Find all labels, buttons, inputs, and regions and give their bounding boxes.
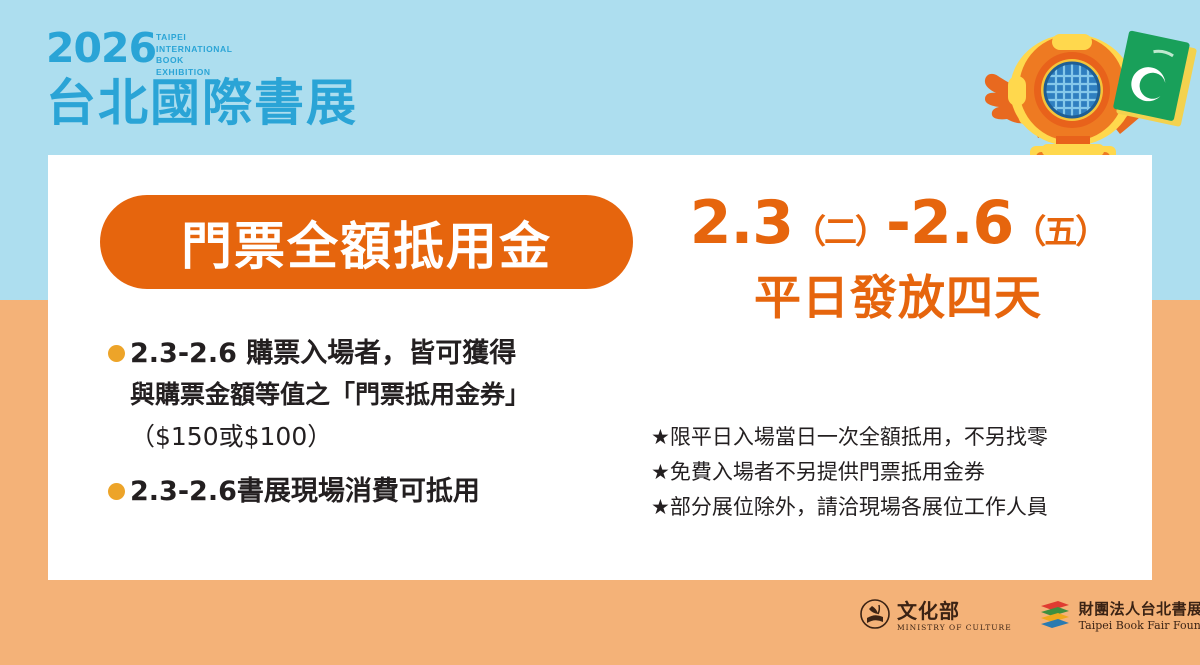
bullet-dot-icon <box>108 345 125 362</box>
logo-year: 2026 <box>46 26 156 70</box>
logo-en-line-1: TAIPEI <box>156 32 233 44</box>
ministry-of-culture-name-cn: 文化部 <box>897 601 1012 622</box>
promo-card: 門票全額抵用金 2.3-2.6 購票入場者，皆可獲得 與購票金額等值之「門票抵用… <box>48 155 1152 580</box>
ministry-of-culture-name-en: MINISTRY OF CULTURE <box>897 624 1012 632</box>
date-end-weekday: （五） <box>1013 212 1106 251</box>
date-start-weekday: （二） <box>793 212 886 251</box>
date-range: 2.3（二）-2.6（五） <box>648 187 1148 268</box>
list-item: 2.3-2.6書展現場消費可抵用 <box>108 471 678 512</box>
terms-notes: ★限平日入場當日一次全額抵用，不另找零 ★免費入場者不另提供門票抵用金券 ★部分… <box>651 420 1151 525</box>
book-fair-foundation-name-en: Taipei Book Fair Foundation <box>1079 620 1200 632</box>
book-fair-foundation-text: 財團法人台北書展基金會 Taipei Book Fair Foundation <box>1079 602 1200 631</box>
note-3: ★部分展位除外，請洽現場各展位工作人員 <box>651 490 1151 525</box>
event-logo: 2026 TAIPEI INTERNATIONAL BOOK EXHIBITIO… <box>46 26 466 142</box>
bullet-1-line-2: 與購票金額等值之「門票抵用金券」 <box>108 374 678 415</box>
bullet-1-line-3: （$150或$100） <box>108 415 678 459</box>
book-fair-foundation-logo: 財團法人台北書展基金會 Taipei Book Fair Foundation <box>1038 598 1200 635</box>
ministry-of-culture-logo: 文化部 MINISTRY OF CULTURE <box>860 599 1012 634</box>
date-start: 2.3 <box>690 188 793 258</box>
bullet-1-line-1: 2.3-2.6 購票入場者，皆可獲得 <box>130 333 516 374</box>
ministry-of-culture-seal-icon <box>860 599 890 634</box>
bullet-dot-icon <box>108 483 125 500</box>
sponsor-logos: 文化部 MINISTRY OF CULTURE 財團法人台北書展基金會 Taip… <box>860 598 1200 635</box>
note-1: ★限平日入場當日一次全額抵用，不另找零 <box>651 420 1151 455</box>
note-2: ★免費入場者不另提供門票抵用金券 <box>651 455 1151 490</box>
date-end: 2.6 <box>910 188 1013 258</box>
date-block: 2.3（二）-2.6（五） 平日發放四天 <box>648 187 1148 328</box>
ticket-credit-pill: 門票全額抵用金 <box>100 195 633 289</box>
pill-label: 門票全額抵用金 <box>181 205 552 279</box>
logo-english-name: TAIPEI INTERNATIONAL BOOK EXHIBITION <box>156 32 233 78</box>
date-subtitle: 平日發放四天 <box>648 270 1148 328</box>
list-item: 2.3-2.6 購票入場者，皆可獲得 <box>108 333 678 374</box>
book-fair-foundation-name-cn: 財團法人台北書展基金會 <box>1079 602 1200 618</box>
date-separator: - <box>886 188 910 258</box>
book-stack-icon <box>1038 598 1072 635</box>
poster-root: 2026 TAIPEI INTERNATIONAL BOOK EXHIBITIO… <box>0 0 1200 665</box>
logo-chinese-name: 台北國際書展 <box>46 74 358 132</box>
logo-en-line-2: INTERNATIONAL <box>156 44 233 56</box>
logo-en-line-3: BOOK <box>156 55 233 67</box>
ministry-of-culture-text: 文化部 MINISTRY OF CULTURE <box>897 601 1012 632</box>
bullet-2-line-1: 2.3-2.6書展現場消費可抵用 <box>130 471 480 512</box>
benefit-list: 2.3-2.6 購票入場者，皆可獲得 與購票金額等值之「門票抵用金券」 （$15… <box>108 333 678 512</box>
